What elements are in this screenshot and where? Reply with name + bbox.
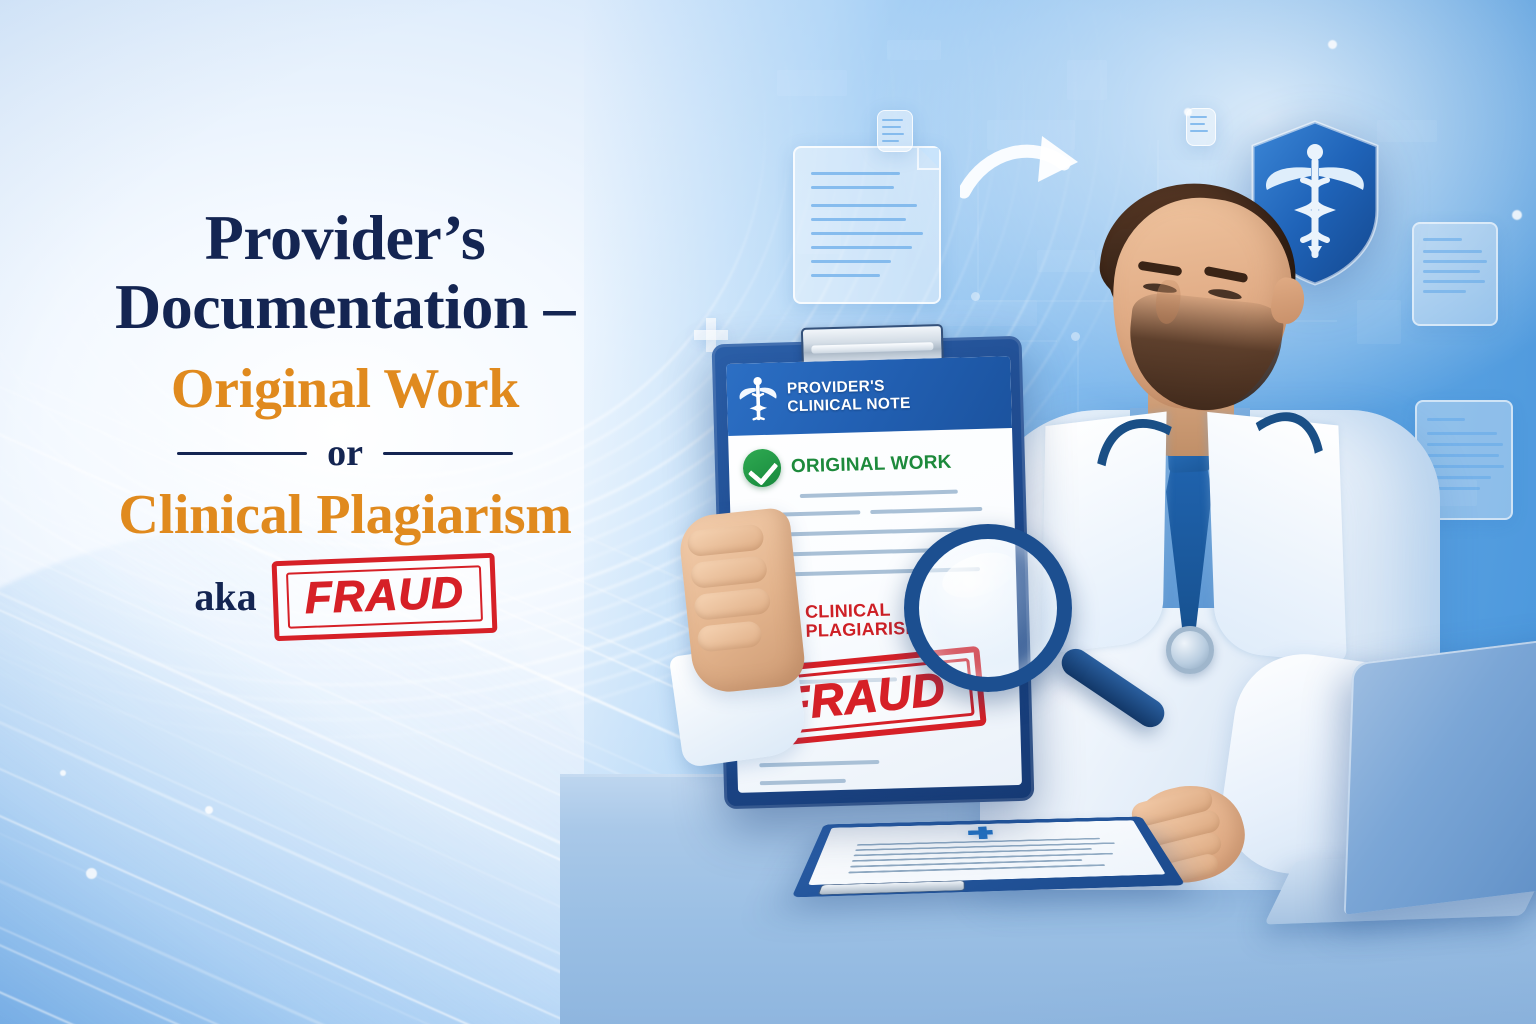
magnifier-handle[interactable] [1056, 643, 1169, 732]
headline-block: Provider’s Documentation – Original Work… [0, 205, 690, 637]
doctor-beard [1123, 290, 1286, 417]
headline-line-2: Documentation – [0, 274, 690, 339]
floating-document-icon-small [877, 110, 913, 152]
background-sparkle [1328, 40, 1337, 49]
document-corner-fold [917, 148, 939, 170]
background-sparkle [86, 868, 97, 879]
floating-document-icon [793, 146, 941, 304]
background-tech-block [1067, 60, 1107, 100]
banner-canvas: C [0, 0, 1536, 1024]
headline-or-divider: or [0, 434, 690, 472]
headline-aka-row: aka FRAUD [0, 557, 690, 637]
doctor-left-hand [677, 507, 807, 696]
magnifying-glass[interactable] [904, 524, 1204, 754]
clinical-note-header: PROVIDER'S CLINICAL NOTE [726, 356, 1012, 436]
divider-rule-right [383, 452, 513, 455]
headline-fraud-stamp: FRAUD [271, 553, 497, 642]
original-work-row: ORIGINAL WORK [743, 444, 953, 488]
headline-aka-label: aka [194, 577, 256, 617]
desk-paper [808, 820, 1166, 885]
background-sparkle [1184, 108, 1192, 116]
headline-highlight-clinical-plagiarism: Clinical Plagiarism [0, 486, 690, 545]
headline-connector-or: or [327, 434, 363, 472]
note-text-line [800, 490, 958, 498]
note-text-line [760, 779, 846, 785]
headline-fraud-stamp-label: FRAUD [304, 571, 465, 621]
magnifier-lens [904, 524, 1072, 692]
headline-line-1: Provider’s [0, 205, 690, 270]
clinical-note-title-line2: CLINICAL NOTE [787, 395, 911, 416]
note-text-line [870, 507, 982, 514]
note-text-line [759, 760, 879, 767]
background-sparkle [1512, 210, 1522, 220]
clinical-note-title: PROVIDER'S CLINICAL NOTE [787, 377, 911, 416]
medical-cross-icon-desk-paper-bar [968, 830, 993, 835]
laptop-lid[interactable] [1344, 635, 1536, 915]
divider-rule-left [177, 452, 307, 455]
background-sparkle [60, 770, 66, 776]
medical-cross-icon-left-bar [694, 330, 728, 340]
background-tech-block [777, 70, 847, 96]
background-sparkle [205, 806, 213, 814]
headline-highlight-original-work: Original Work [0, 360, 690, 419]
clipboard-on-desk[interactable] [792, 817, 1186, 898]
headline-fraud-stamp-inner-border: FRAUD [286, 565, 483, 628]
caduceus-icon [736, 374, 779, 425]
original-work-label: ORIGINAL WORK [791, 452, 952, 478]
background-tech-block [1377, 120, 1437, 142]
background-tech-block [887, 40, 941, 60]
green-check-icon [743, 449, 782, 488]
